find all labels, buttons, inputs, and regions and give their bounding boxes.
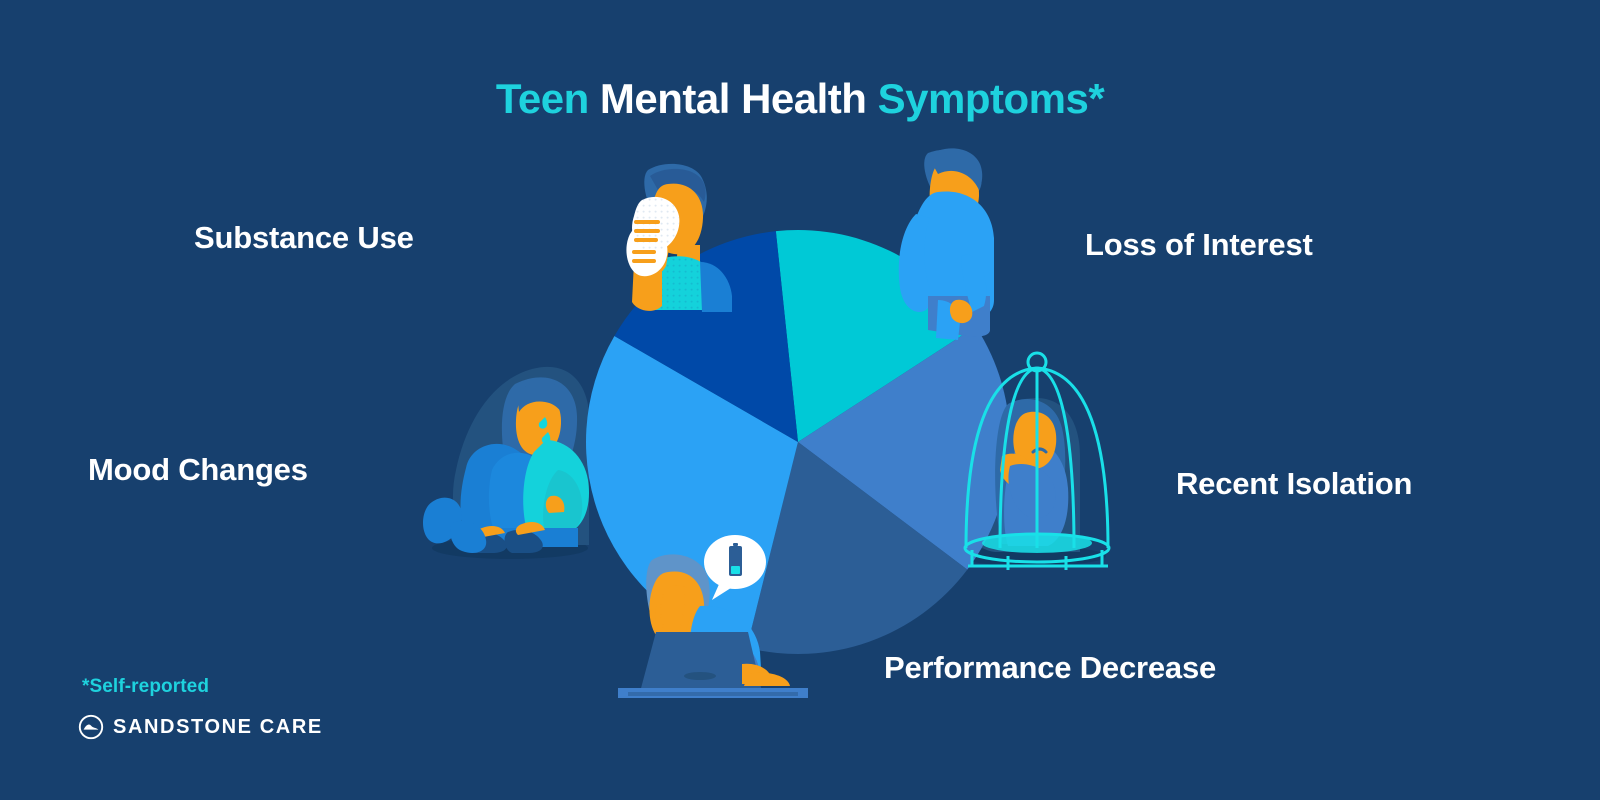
slouching-teen-icon xyxy=(899,148,994,340)
infographic-canvas: Teen Mental Health Symptoms* Substance U… xyxy=(0,0,1600,800)
label-performance-decrease: Performance Decrease xyxy=(884,652,1216,683)
title-part-symptoms: Symptoms* xyxy=(878,75,1105,122)
brand-name: SANDSTONE CARE xyxy=(113,717,323,737)
pie-slice-loss-of-interest[interactable] xyxy=(776,230,976,442)
isolation-figure-backdrop xyxy=(963,398,1080,552)
title-part-mental-health: Mental Health xyxy=(600,75,867,122)
title-part-teen: Teen xyxy=(496,75,589,122)
pie-slice-mood-changes[interactable] xyxy=(586,336,798,648)
label-loss-of-interest: Loss of Interest xyxy=(1085,229,1313,260)
sandstone-circle-mountain-icon xyxy=(78,714,104,740)
seated-crying-teen-icon xyxy=(423,377,589,553)
pie-slice-substance-use[interactable] xyxy=(614,231,798,442)
label-substance-use: Substance Use xyxy=(194,222,414,253)
pie-slice-recent-isolation[interactable] xyxy=(798,327,1010,570)
isolation-figure-shadow xyxy=(958,546,1106,566)
label-recent-isolation: Recent Isolation xyxy=(1176,468,1412,499)
footnote-self-reported: *Self-reported xyxy=(82,677,209,696)
mood-figure-shadow xyxy=(432,537,588,559)
label-mood-changes: Mood Changes xyxy=(88,454,308,485)
pie-slice-performance-decrease[interactable] xyxy=(747,442,968,654)
pie-chart xyxy=(586,230,1010,654)
page-title: Teen Mental Health Symptoms* xyxy=(0,78,1600,120)
teen-at-laptop-icon xyxy=(618,535,808,698)
brand-lockup: SANDSTONE CARE xyxy=(78,714,323,740)
teen-in-birdcage-icon xyxy=(965,353,1109,570)
teen-drinking-bottle-icon xyxy=(626,164,732,312)
mood-figure-backdrop xyxy=(453,367,589,545)
